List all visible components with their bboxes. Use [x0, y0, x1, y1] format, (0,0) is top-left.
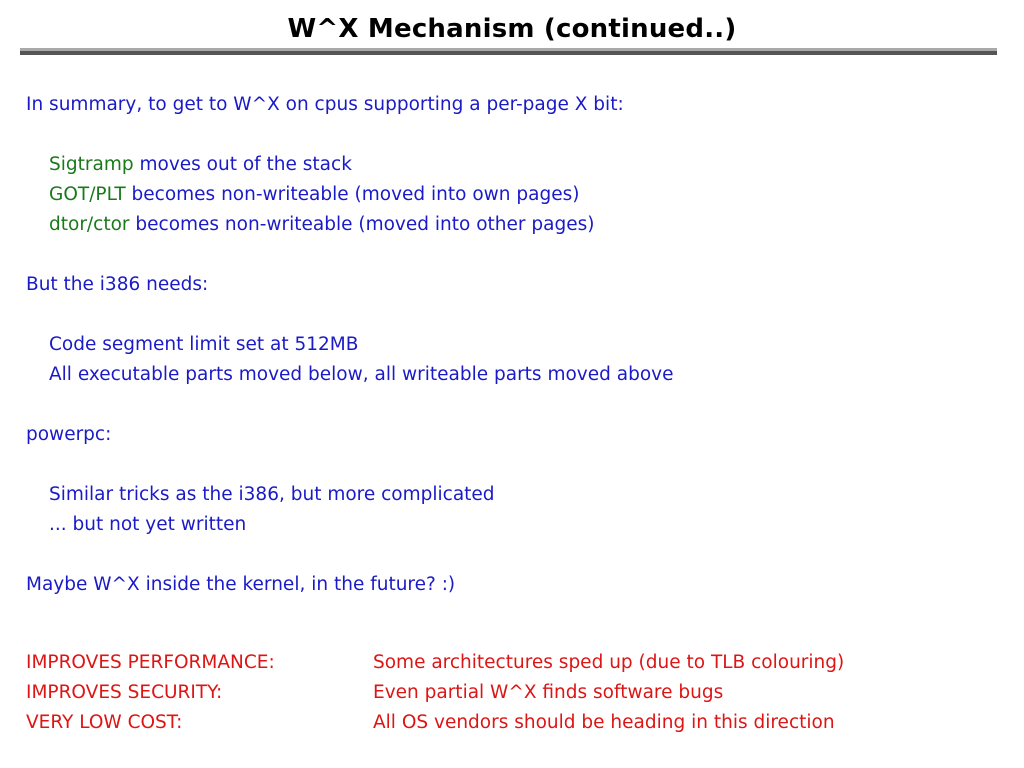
summary-item: dtor/ctor becomes non-writeable (moved i…	[49, 210, 1024, 240]
summary-item-text: becomes non-writeable (moved into own pa…	[126, 184, 580, 205]
summary-lead: In summary, to get to W^X on cpus suppor…	[26, 90, 1024, 120]
summary-item-keyword: Sigtramp	[49, 154, 134, 175]
summary-item-text: becomes non-writeable (moved into other …	[130, 214, 595, 235]
powerpc-item: Similar tricks as the i386, but more com…	[49, 480, 1024, 510]
spacer	[0, 450, 1024, 480]
benefit-row: VERY LOW COST: All OS vendors should be …	[0, 708, 1024, 738]
spacer	[0, 240, 1024, 270]
i386-item: Code segment limit set at 512MB	[49, 330, 1024, 360]
summary-item-keyword: GOT/PLT	[49, 184, 126, 205]
slide-body: In summary, to get to W^X on cpus suppor…	[0, 90, 1024, 600]
benefit-label: VERY LOW COST:	[26, 708, 182, 738]
benefit-label: IMPROVES SECURITY:	[26, 678, 222, 708]
kernel-note: Maybe W^X inside the kernel, in the futu…	[26, 570, 1024, 600]
spacer	[0, 540, 1024, 570]
benefit-row: IMPROVES SECURITY: Even partial W^X find…	[0, 678, 1024, 708]
powerpc-item: ... but not yet written	[49, 510, 1024, 540]
benefit-description: All OS vendors should be heading in this…	[373, 708, 835, 738]
summary-item: Sigtramp moves out of the stack	[49, 150, 1024, 180]
benefit-label: IMPROVES PERFORMANCE:	[26, 648, 275, 678]
i386-lead: But the i386 needs:	[26, 270, 1024, 300]
i386-item: All executable parts moved below, all wr…	[49, 360, 1024, 390]
spacer	[0, 300, 1024, 330]
spacer	[0, 390, 1024, 420]
benefit-row: IMPROVES PERFORMANCE: Some architectures…	[0, 648, 1024, 678]
title-divider	[20, 48, 997, 55]
powerpc-lead: powerpc:	[26, 420, 1024, 450]
spacer	[0, 120, 1024, 150]
summary-item: GOT/PLT becomes non-writeable (moved int…	[49, 180, 1024, 210]
summary-item-keyword: dtor/ctor	[49, 214, 130, 235]
benefit-description: Even partial W^X finds software bugs	[373, 678, 723, 708]
title-divider-shadow	[20, 51, 997, 55]
page-title: W^X Mechanism (continued..)	[0, 14, 1024, 44]
benefits-block: IMPROVES PERFORMANCE: Some architectures…	[0, 648, 1024, 738]
benefit-description: Some architectures sped up (due to TLB c…	[373, 648, 844, 678]
summary-item-text: moves out of the stack	[134, 154, 352, 175]
